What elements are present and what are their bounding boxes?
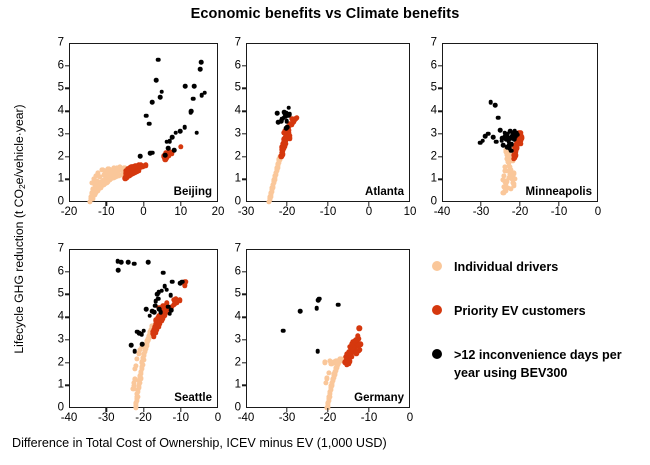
point-inconvenience-days xyxy=(275,111,280,116)
point-inconvenience-days xyxy=(161,270,166,275)
y-tick-mark xyxy=(65,156,69,157)
x-tick-mark xyxy=(180,408,181,412)
point-individual-drivers xyxy=(133,367,138,372)
y-tick-label: 7 xyxy=(221,37,241,49)
point-individual-drivers xyxy=(135,394,140,399)
point-inconvenience-days xyxy=(158,95,163,100)
point-priority-ev-customers xyxy=(511,156,516,161)
y-tick-mark xyxy=(438,88,442,89)
legend-item-1: Individual drivers xyxy=(432,258,648,276)
legend-label: Individual drivers xyxy=(454,260,558,274)
point-inconvenience-days xyxy=(314,306,319,311)
y-tick-mark xyxy=(65,88,69,89)
point-inconvenience-days xyxy=(169,308,174,313)
point-priority-ev-customers xyxy=(357,342,362,347)
point-priority-ev-customers xyxy=(143,163,148,168)
point-inconvenience-days xyxy=(146,260,151,265)
y-tick-label: 6 xyxy=(221,60,241,72)
y-tick-label: 5 xyxy=(44,289,64,301)
point-inconvenience-days xyxy=(200,93,205,98)
point-individual-drivers xyxy=(134,403,139,408)
point-inconvenience-days xyxy=(198,67,203,72)
chart-root: Economic benefits vs Climate benefits Li… xyxy=(0,0,650,465)
y-tick-label: 7 xyxy=(417,37,437,49)
x-tick-mark xyxy=(558,202,559,206)
point-inconvenience-days xyxy=(317,297,322,302)
y-tick-label: 6 xyxy=(417,60,437,72)
point-inconvenience-days xyxy=(172,148,177,153)
x-tick-label: 20 xyxy=(212,207,225,219)
legend-label: Priority EV customers xyxy=(454,304,586,318)
x-tick-mark xyxy=(519,202,520,206)
point-individual-drivers xyxy=(140,362,145,367)
point-inconvenience-days xyxy=(500,136,505,141)
point-inconvenience-days xyxy=(480,138,485,143)
x-tick-label: 0 xyxy=(595,207,601,219)
y-tick-mark xyxy=(438,65,442,66)
x-tick-label: -30 xyxy=(98,413,115,425)
point-inconvenience-days xyxy=(150,150,155,155)
y-tick-mark xyxy=(242,110,246,111)
x-tick-mark xyxy=(327,202,328,206)
point-inconvenience-days xyxy=(168,139,173,144)
y-tick-label: 1 xyxy=(44,174,64,186)
point-inconvenience-days xyxy=(515,133,520,138)
y-tick-label: 3 xyxy=(417,128,437,140)
y-tick-label: 3 xyxy=(44,128,64,140)
plot-area: Germany xyxy=(246,249,410,408)
y-tick-label: 5 xyxy=(221,289,241,301)
point-inconvenience-days xyxy=(298,309,303,314)
y-tick-label: 5 xyxy=(417,83,437,95)
y-tick-mark xyxy=(242,385,246,386)
point-inconvenience-days xyxy=(133,349,138,354)
y-tick-mark xyxy=(438,110,442,111)
point-individual-drivers xyxy=(139,371,144,376)
x-tick-label: 0 xyxy=(407,413,413,425)
point-inconvenience-days xyxy=(138,154,143,159)
y-tick-label: 4 xyxy=(221,311,241,323)
y-tick-mark xyxy=(438,156,442,157)
x-tick-label: -10 xyxy=(172,413,189,425)
y-tick-mark xyxy=(65,339,69,340)
x-tick-label: 10 xyxy=(404,207,417,219)
point-inconvenience-days xyxy=(147,314,152,319)
point-inconvenience-days xyxy=(163,153,168,158)
x-tick-label: -40 xyxy=(434,207,451,219)
point-individual-drivers xyxy=(512,177,517,182)
y-tick-label: 5 xyxy=(221,83,241,95)
point-individual-drivers xyxy=(138,376,143,381)
point-individual-drivers xyxy=(134,398,139,403)
point-inconvenience-days xyxy=(496,116,501,121)
y-tick-mark xyxy=(438,179,442,180)
point-inconvenience-days xyxy=(150,100,155,105)
point-inconvenience-days xyxy=(119,260,124,265)
point-inconvenience-days xyxy=(166,146,171,151)
y-tick-mark xyxy=(65,133,69,134)
point-inconvenience-days xyxy=(116,268,121,273)
point-inconvenience-days xyxy=(159,89,164,94)
x-tick-mark xyxy=(368,408,369,412)
point-inconvenience-days xyxy=(144,113,149,118)
point-inconvenience-days xyxy=(156,290,161,295)
point-inconvenience-days xyxy=(282,116,287,121)
y-tick-mark xyxy=(65,271,69,272)
x-tick-label: 0 xyxy=(215,413,221,425)
x-tick-mark xyxy=(143,202,144,206)
point-inconvenience-days xyxy=(189,109,194,114)
point-inconvenience-days xyxy=(129,343,134,348)
point-inconvenience-days xyxy=(168,293,173,298)
y-tick-mark xyxy=(65,362,69,363)
x-tick-label: 0 xyxy=(140,207,146,219)
x-tick-label: -10 xyxy=(98,207,115,219)
point-inconvenience-days xyxy=(191,96,196,101)
y-tick-label: 7 xyxy=(221,243,241,255)
x-tick-mark xyxy=(106,202,107,206)
point-inconvenience-days xyxy=(194,130,199,135)
panel-germany: Germany01234567-40-30-20-100 xyxy=(246,249,410,408)
point-individual-drivers xyxy=(511,171,516,176)
scatter-layer xyxy=(443,44,597,201)
point-priority-ev-customers xyxy=(347,359,352,364)
legend-label: >12 inconvenience days per year using BE… xyxy=(454,348,622,380)
y-tick-label: 6 xyxy=(44,60,64,72)
point-inconvenience-days xyxy=(507,146,512,151)
x-tick-label: -20 xyxy=(320,413,337,425)
point-inconvenience-days xyxy=(182,125,187,130)
x-tick-label: -30 xyxy=(238,207,255,219)
x-tick-mark xyxy=(368,202,369,206)
x-tick-label: -30 xyxy=(279,413,296,425)
point-individual-drivers xyxy=(136,389,141,394)
point-inconvenience-days xyxy=(315,349,320,354)
y-tick-label: 2 xyxy=(44,357,64,369)
legend: Individual driversPriority EV customers>… xyxy=(432,258,648,408)
y-tick-mark xyxy=(438,133,442,134)
panel-label: Atlanta xyxy=(365,186,404,198)
y-tick-label: 4 xyxy=(44,311,64,323)
y-tick-label: 5 xyxy=(44,83,64,95)
y-tick-mark xyxy=(242,65,246,66)
x-tick-label: -40 xyxy=(61,413,78,425)
y-tick-label: 1 xyxy=(417,174,437,186)
y-tick-mark xyxy=(242,339,246,340)
scatter-layer xyxy=(247,44,409,201)
x-tick-label: -20 xyxy=(135,413,152,425)
point-inconvenience-days xyxy=(287,112,292,117)
point-priority-ev-customers xyxy=(280,151,285,156)
panel-label: Seattle xyxy=(174,392,212,404)
point-inconvenience-days xyxy=(144,307,149,312)
scatter-layer xyxy=(70,44,217,201)
x-tick-label: -20 xyxy=(279,207,296,219)
y-tick-label: 6 xyxy=(221,266,241,278)
y-tick-label: 4 xyxy=(221,105,241,117)
y-tick-label: 3 xyxy=(44,334,64,346)
panel-label: Minneapolis xyxy=(526,186,592,198)
y-tick-label: 6 xyxy=(44,266,64,278)
point-inconvenience-days xyxy=(162,284,167,289)
y-tick-mark xyxy=(242,271,246,272)
point-individual-drivers xyxy=(141,358,146,363)
point-priority-ev-customers xyxy=(136,168,141,173)
y-tick-label: 7 xyxy=(44,37,64,49)
y-tick-label: 2 xyxy=(417,151,437,163)
y-axis-label: Lifecycle GHG reduction (t CO2e/vehicle·… xyxy=(12,54,26,404)
legend-item-3: >12 inconvenience days per year using BE… xyxy=(432,346,648,382)
x-tick-mark xyxy=(480,202,481,206)
point-inconvenience-days xyxy=(156,58,161,63)
point-priority-ev-customers xyxy=(354,351,359,356)
point-inconvenience-days xyxy=(199,60,204,65)
point-individual-drivers xyxy=(137,380,142,385)
x-tick-mark xyxy=(327,408,328,412)
point-inconvenience-days xyxy=(170,135,175,140)
point-inconvenience-days xyxy=(494,139,499,144)
y-tick-label: 1 xyxy=(44,380,64,392)
point-inconvenience-days xyxy=(178,281,183,286)
x-tick-mark xyxy=(106,408,107,412)
point-inconvenience-days xyxy=(192,84,197,89)
x-tick-mark xyxy=(286,408,287,412)
point-inconvenience-days xyxy=(287,105,292,110)
point-individual-drivers xyxy=(136,385,141,390)
x-tick-label: 0 xyxy=(366,207,372,219)
y-tick-mark xyxy=(242,294,246,295)
y-tick-mark xyxy=(242,362,246,363)
point-priority-ev-customers xyxy=(518,141,523,146)
y-tick-label: 4 xyxy=(417,105,437,117)
y-tick-mark xyxy=(65,294,69,295)
panel-beijing: Beijing01234567-20-1001020 xyxy=(69,43,218,202)
point-inconvenience-days xyxy=(140,342,145,347)
y-tick-label: 2 xyxy=(221,357,241,369)
plot-area: Seattle xyxy=(69,249,218,408)
plot-area: Minneapolis xyxy=(442,43,598,202)
x-tick-mark xyxy=(286,202,287,206)
scatter-layer xyxy=(247,250,409,407)
x-axis-label: Difference in Total Cost of Ownership, I… xyxy=(12,436,432,450)
y-tick-mark xyxy=(242,133,246,134)
x-tick-mark xyxy=(180,202,181,206)
point-inconvenience-days xyxy=(170,280,175,285)
y-tick-label: 1 xyxy=(221,174,241,186)
x-tick-label: -10 xyxy=(361,413,378,425)
y-tick-mark xyxy=(65,316,69,317)
y-tick-mark xyxy=(242,156,246,157)
legend-item-2: Priority EV customers xyxy=(432,302,648,320)
legend-marker-icon xyxy=(432,261,442,271)
x-tick-label: -10 xyxy=(551,207,568,219)
y-tick-mark xyxy=(65,179,69,180)
y-tick-mark xyxy=(242,88,246,89)
point-inconvenience-days xyxy=(154,78,159,83)
y-tick-mark xyxy=(65,65,69,66)
y-tick-label: 3 xyxy=(221,334,241,346)
panel-label: Germany xyxy=(354,392,404,404)
point-inconvenience-days xyxy=(132,261,137,266)
panel-minneapolis: Minneapolis01234567-40-30-20-100 xyxy=(442,43,598,202)
point-inconvenience-days xyxy=(126,260,131,265)
point-individual-drivers xyxy=(139,367,144,372)
x-tick-label: -20 xyxy=(61,207,78,219)
x-tick-label: -10 xyxy=(320,207,337,219)
x-tick-mark xyxy=(143,408,144,412)
plot-area: Atlanta xyxy=(246,43,410,202)
point-inconvenience-days xyxy=(336,302,341,307)
plot-area: Beijing xyxy=(69,43,218,202)
y-tick-label: 7 xyxy=(44,243,64,255)
point-inconvenience-days xyxy=(178,129,183,134)
point-inconvenience-days xyxy=(183,84,188,89)
panel-seattle: Seattle01234567-40-30-20-100 xyxy=(69,249,218,408)
y-tick-label: 1 xyxy=(221,380,241,392)
y-tick-label: 2 xyxy=(44,151,64,163)
point-inconvenience-days xyxy=(281,328,286,333)
point-inconvenience-days xyxy=(147,121,152,126)
y-tick-mark xyxy=(242,316,246,317)
y-tick-label: 2 xyxy=(221,151,241,163)
point-individual-drivers xyxy=(501,190,506,195)
y-tick-mark xyxy=(65,385,69,386)
y-tick-label: 3 xyxy=(221,128,241,140)
x-tick-label: -40 xyxy=(238,413,255,425)
point-inconvenience-days xyxy=(284,126,289,131)
x-tick-label: -20 xyxy=(512,207,529,219)
point-inconvenience-days xyxy=(141,328,146,333)
point-priority-ev-customers xyxy=(357,326,362,331)
panel-label: Beijing xyxy=(174,186,212,198)
point-priority-ev-customers xyxy=(282,141,287,146)
x-tick-label: 10 xyxy=(174,207,187,219)
legend-marker-icon xyxy=(432,305,442,315)
y-tick-label: 4 xyxy=(44,105,64,117)
point-inconvenience-days xyxy=(493,103,498,108)
y-tick-mark xyxy=(65,110,69,111)
point-individual-drivers xyxy=(323,380,328,385)
scatter-layer xyxy=(70,250,217,407)
x-tick-label: -30 xyxy=(473,207,490,219)
point-priority-ev-customers xyxy=(178,144,183,149)
panel-atlanta: Atlanta01234567-30-20-10010 xyxy=(246,43,410,202)
y-tick-mark xyxy=(242,179,246,180)
page-title: Economic benefits vs Climate benefits xyxy=(0,6,650,22)
legend-marker-icon xyxy=(432,349,442,359)
point-inconvenience-days xyxy=(159,310,164,315)
